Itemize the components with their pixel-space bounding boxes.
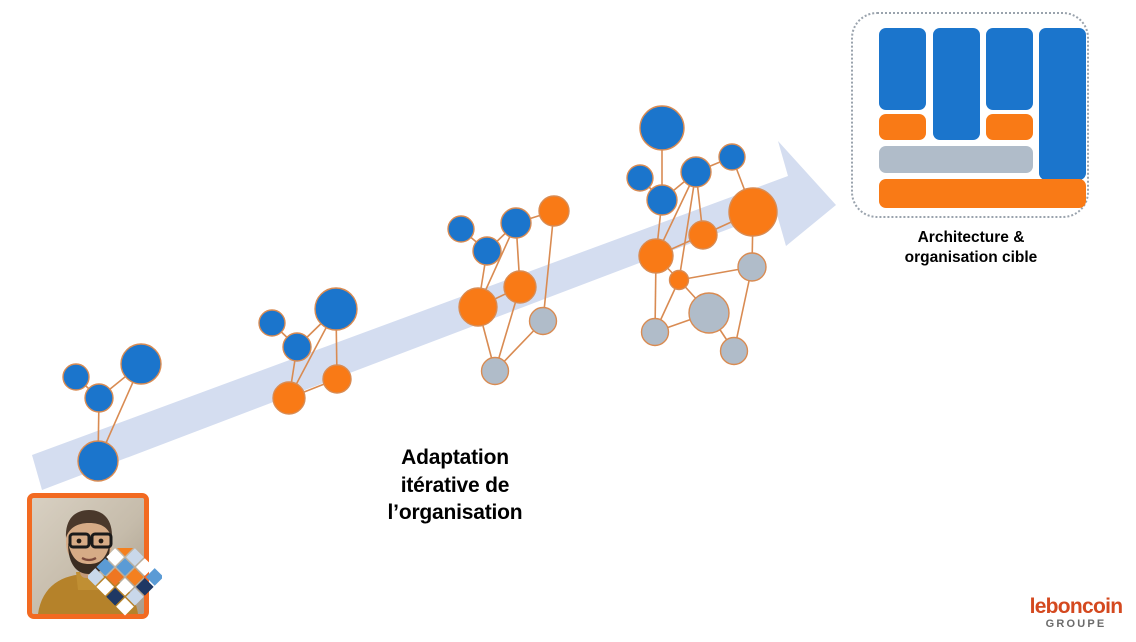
cluster-node [721, 338, 748, 365]
cluster-node [689, 293, 729, 333]
cluster-node [504, 271, 536, 303]
cluster-node [681, 157, 711, 187]
cluster-node [738, 253, 766, 281]
cluster-node [473, 237, 501, 265]
cluster-node [729, 188, 777, 236]
arch-block-column-4-blue [1039, 28, 1086, 180]
cluster-node [259, 310, 285, 336]
speaker-photo-frame [27, 493, 149, 619]
caption-line-2: itérative de [330, 472, 580, 500]
brand-subtitle: GROUPE [1026, 619, 1126, 630]
cluster-node [670, 271, 689, 290]
target-architecture-panel [851, 12, 1089, 218]
brand-logo: leboncoin GROUPE [1026, 596, 1126, 630]
cluster-node [719, 144, 745, 170]
cluster-node [640, 106, 684, 150]
target-architecture-blocks [853, 14, 1091, 220]
cluster-node [530, 308, 557, 335]
cluster-node [642, 319, 669, 346]
cluster-node [689, 221, 717, 249]
cluster-node [85, 384, 113, 412]
target-label-line-2: organisation cible [860, 248, 1082, 268]
cluster-node [273, 382, 305, 414]
slide-canvas: Adaptation itérative de l’organisation A… [0, 0, 1136, 642]
brand-name: leboncoin [1026, 596, 1126, 617]
cluster-node [647, 185, 677, 215]
arch-block-column-2-blue [933, 28, 980, 140]
cluster-node [459, 288, 497, 326]
cluster-node [448, 216, 474, 242]
cluster-node [63, 364, 89, 390]
cluster-node [283, 333, 311, 361]
arch-block-foundation-orange [879, 179, 1086, 208]
cluster-node [121, 344, 161, 384]
cluster-node [78, 441, 118, 481]
center-caption: Adaptation itérative de l’organisation [330, 444, 580, 527]
cluster-node [482, 358, 509, 385]
arch-block-column-1-blue [879, 28, 926, 110]
arch-block-column-3-blue [986, 28, 1033, 110]
arch-block-column-3-orange [986, 114, 1033, 140]
cluster-node [323, 365, 351, 393]
caption-line-1: Adaptation [330, 444, 580, 472]
caption-line-3: l’organisation [330, 499, 580, 527]
speaker-portrait [32, 498, 144, 614]
target-architecture-label: Architecture & organisation cible [860, 228, 1082, 269]
cluster-edge [543, 211, 554, 321]
cluster-node [639, 239, 673, 273]
arch-block-platform-gray [879, 146, 1033, 173]
cluster-node [315, 288, 357, 330]
arch-block-column-1-orange [879, 114, 926, 140]
cluster-nodes [63, 106, 777, 481]
target-label-line-1: Architecture & [860, 228, 1082, 248]
cluster-node [627, 165, 653, 191]
cluster-node [501, 208, 531, 238]
cluster-node [539, 196, 569, 226]
